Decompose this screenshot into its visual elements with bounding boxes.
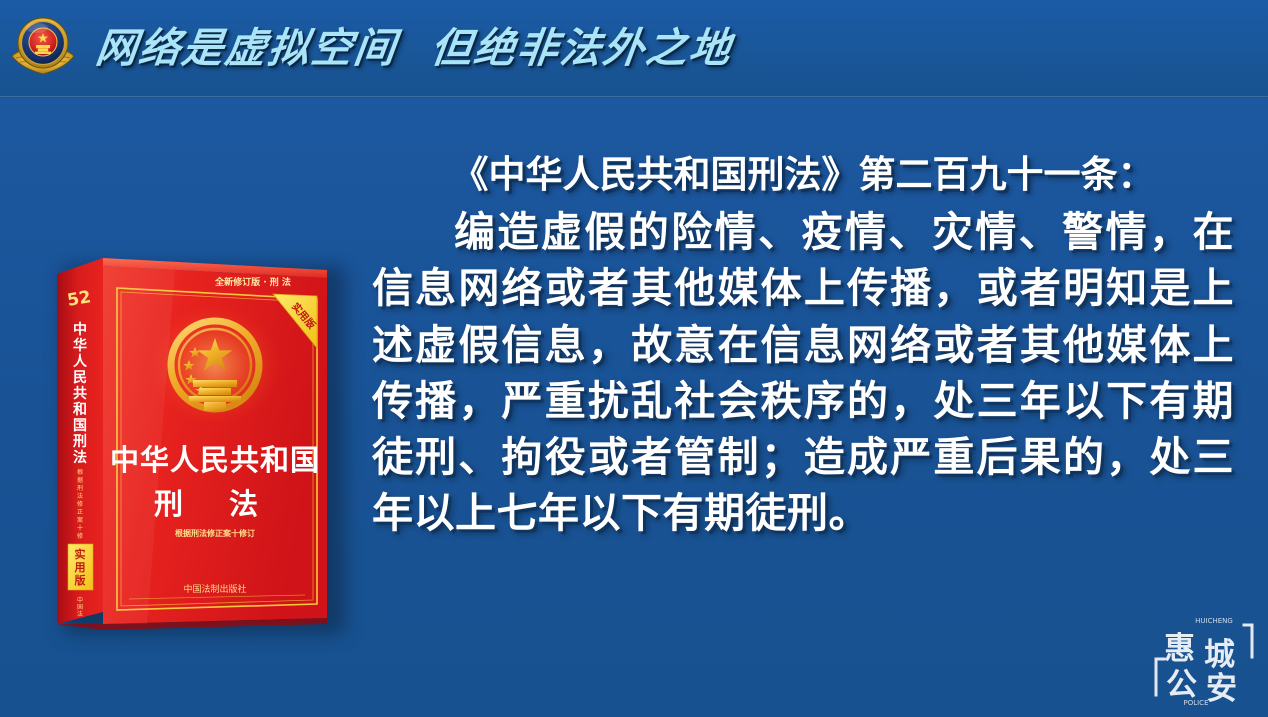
book-spine-number: 52: [66, 287, 93, 311]
book-top-line: 全新修订版 · 刑 法: [214, 276, 291, 288]
svg-text:中: 中: [73, 321, 87, 338]
book-illustration: 全新修订版 · 刑 法 实用版: [55, 252, 345, 630]
huicheng-police-watermark: HUICHENG POLICE 惠 城 公 安: [1152, 611, 1256, 709]
svg-text:华: 华: [73, 337, 87, 354]
police-badge-icon: [6, 12, 80, 86]
book-spine-subtitle: 根据刑 法修正 案十修: [77, 468, 83, 540]
criminal-law-book: 全新修订版 · 刑 法 实用版: [55, 252, 345, 630]
svg-text:十: 十: [77, 524, 83, 532]
banner-divider: [0, 96, 1268, 98]
law-body: 编造虚假的险情、疫情、灾情、警情，在信息网络或者其他媒体上传播，或者明知是上述虚…: [372, 204, 1234, 541]
svg-text:刑: 刑: [77, 484, 83, 492]
watermark-top-mark: HUICHENG: [1195, 617, 1233, 625]
banner-slogan: 网络是虚拟空间但绝非法外之地: [93, 28, 734, 69]
book-spine-badge: 实用版: [75, 547, 86, 587]
svg-text:根: 根: [77, 468, 83, 476]
svg-text:民: 民: [73, 370, 87, 386]
watermark-char-2: 城: [1204, 637, 1235, 673]
watermark-char-3: 公: [1166, 667, 1197, 703]
banner-slogan-part1: 网络是虚拟空间: [93, 24, 400, 72]
svg-text:中: 中: [77, 596, 83, 604]
svg-text:共: 共: [73, 385, 87, 402]
book-spine-publisher: 中国法: [77, 596, 83, 618]
watermark-char-4: 安: [1206, 671, 1237, 707]
svg-text:法: 法: [73, 449, 87, 466]
svg-text:用: 用: [75, 561, 86, 574]
book-spine-title: 中华人 民共和 国刑法: [73, 321, 88, 466]
watermark-char-1: 惠: [1164, 631, 1195, 667]
svg-text:刑: 刑: [73, 434, 87, 450]
book-cover-title-2: 刑 法: [154, 487, 276, 521]
svg-text:实: 实: [75, 547, 86, 561]
banner-slogan-part2: 但绝非法外之地: [428, 24, 735, 72]
book-cover-subtitle: 根据刑法修正案十修订: [175, 528, 255, 538]
svg-text:修: 修: [77, 500, 83, 508]
svg-text:和: 和: [73, 402, 87, 418]
svg-text:法: 法: [77, 492, 83, 500]
svg-text:正: 正: [77, 509, 83, 516]
slide-root: 网络是虚拟空间但绝非法外之地: [0, 0, 1268, 717]
law-text-block: 《中华人民共和国刑法》第二百九十一条： 编造虚假的险情、疫情、灾情、警情，在信息…: [372, 152, 1234, 541]
svg-text:国: 国: [73, 418, 87, 434]
law-title: 《中华人民共和国刑法》第二百九十一条：: [372, 152, 1234, 198]
svg-text:国: 国: [77, 604, 83, 611]
svg-text:法: 法: [77, 610, 83, 618]
book-cover-publisher: 中国法制出版社: [183, 583, 246, 595]
top-banner: 网络是虚拟空间但绝非法外之地: [0, 0, 1268, 97]
svg-text:据: 据: [77, 476, 83, 484]
svg-text:案: 案: [77, 516, 83, 524]
svg-text:人: 人: [73, 353, 88, 370]
svg-text:修: 修: [77, 532, 83, 540]
svg-text:版: 版: [75, 573, 86, 587]
